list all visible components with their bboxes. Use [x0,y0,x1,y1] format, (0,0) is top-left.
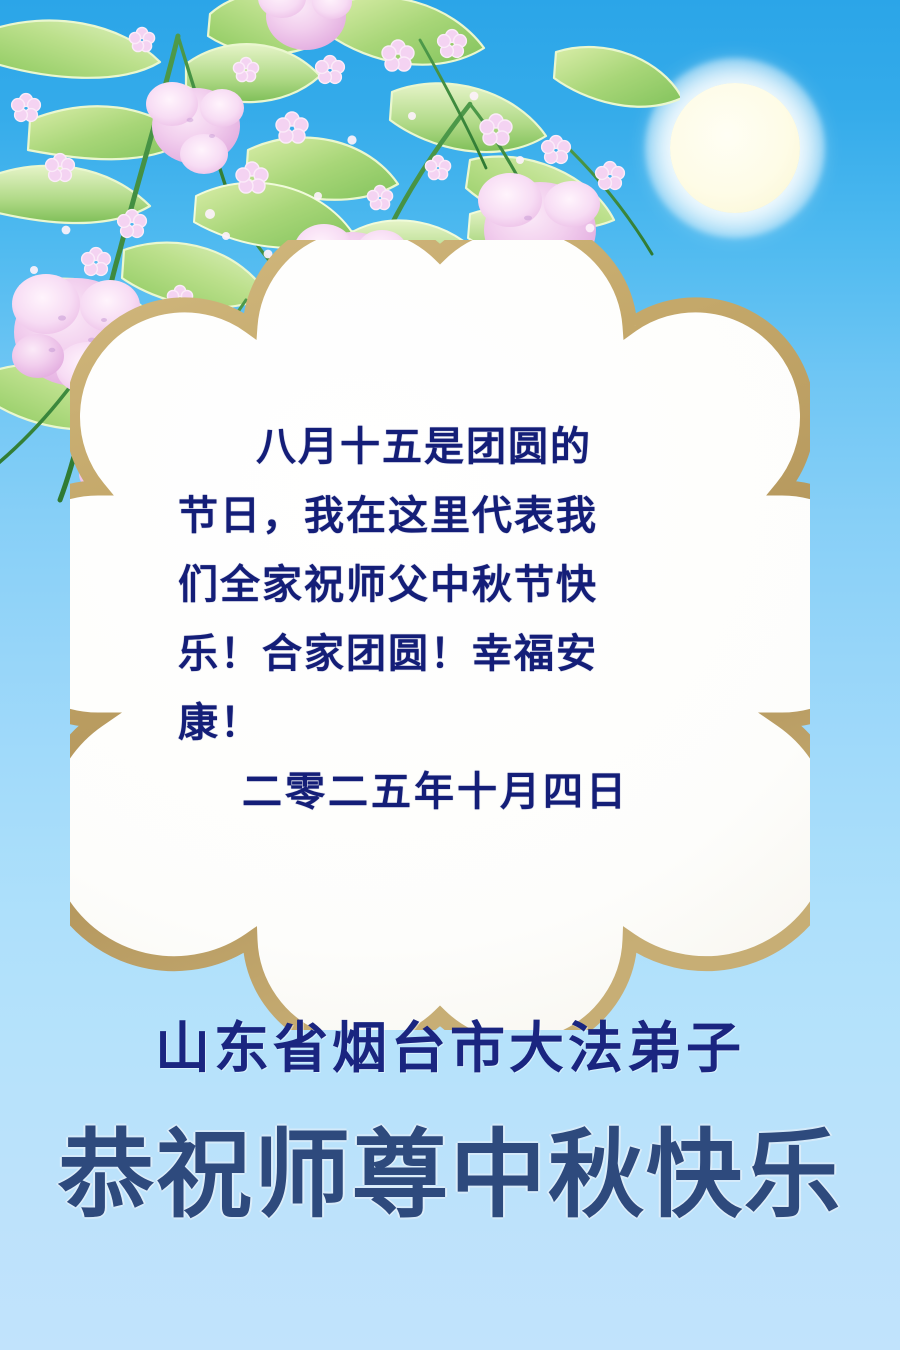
letter-line-4: 乐！合家团圆！幸福安 [178,619,738,688]
headline-text: 恭祝师尊中秋快乐 [0,1120,900,1232]
signature-text: 山东省烟台市大法弟子 [0,1018,900,1080]
letter-line-1: 八月十五是团圆的 [178,412,738,481]
blossom-cluster-2 [146,82,244,174]
greeting-card: 八月十五是团圆的 节日，我在这里代表我 们全家祝师父中秋节快 乐！合家团圆！幸福… [0,0,900,1350]
letter-line-2: 节日，我在这里代表我 [178,481,738,550]
full-moon-icon [670,83,800,213]
letter-line-5: 康！ [178,688,738,757]
letter-date-line: 二零二五年十月四日 [178,757,738,826]
letter-body: 八月十五是团圆的 节日，我在这里代表我 们全家祝师父中秋节快 乐！合家团圆！幸福… [178,412,738,826]
letter-line-3: 们全家祝师父中秋节快 [178,550,738,619]
